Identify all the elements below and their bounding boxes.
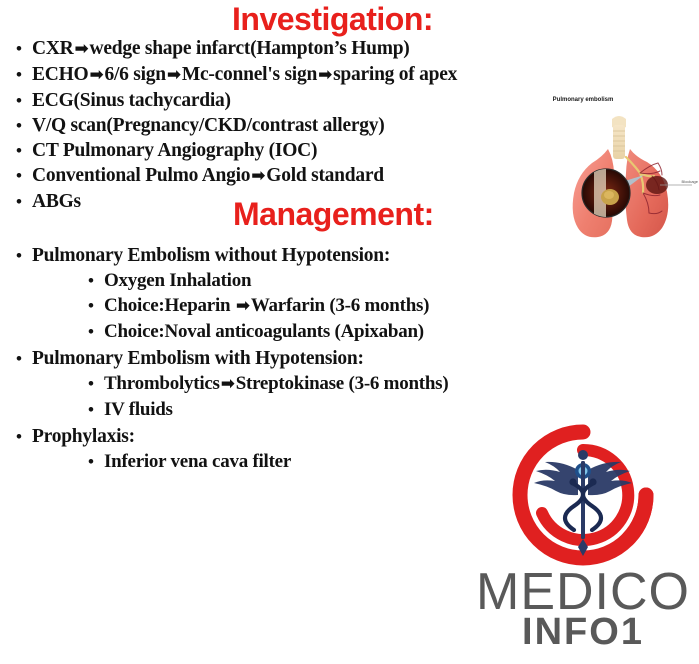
list-item-label: IV fluids [104, 397, 173, 422]
list-item-label: ECG(Sinus tachycardia) [32, 88, 231, 113]
list-item-label: ECHO➡6/6 sign➡Mc-connel's sign➡sparing o… [32, 62, 457, 88]
arrow-right-icon: ➡ [74, 39, 90, 59]
bullet-dot-icon: • [16, 62, 32, 87]
bullet-dot-icon: • [16, 163, 32, 188]
list-item: •V/Q scan(Pregnancy/CKD/contrast allergy… [0, 113, 560, 138]
arrow-right-icon: ➡ [88, 65, 104, 85]
list-item-label: V/Q scan(Pregnancy/CKD/contrast allergy) [32, 113, 385, 138]
list-item: •IV fluids [0, 397, 600, 422]
list-item: •Choice:Heparin ➡Warfarin (3-6 months) [0, 293, 600, 319]
arrow-right-icon: ➡ [166, 65, 182, 85]
list-item-label: Conventional Pulmo Angio➡Gold standard [32, 163, 384, 189]
logo-word-main: MEDICO [466, 568, 699, 616]
lung-anatomy-illustration: Pulmonary embolism Blockage [540, 93, 698, 251]
logo-wordmark: MEDICO INFO1 [466, 568, 699, 650]
list-item-label: CT Pulmonary Angiography (IOC) [32, 138, 317, 163]
bullet-dot-icon: • [88, 268, 104, 293]
bullet-dot-icon: • [88, 319, 104, 344]
list-item: •CT Pulmonary Angiography (IOC) [0, 138, 560, 163]
infographic-canvas: Investigation: •CXR➡wedge shape infarct(… [0, 0, 699, 664]
list-item-label: Pulmonary Embolism with Hypotension: [32, 346, 364, 371]
bullet-dot-icon: • [16, 243, 32, 268]
investigation-list: •CXR➡wedge shape infarct(Hampton’s Hump)… [0, 36, 560, 214]
list-item: •Pulmonary Embolism without Hypotension: [0, 243, 600, 268]
bullet-dot-icon: • [88, 371, 104, 396]
bullet-dot-icon: • [16, 346, 32, 371]
bullet-dot-icon: • [16, 424, 32, 449]
list-item-label: Oxygen Inhalation [104, 268, 251, 293]
list-item-label: Choice:Noval anticoagulants (Apixaban) [104, 319, 424, 344]
bullet-dot-icon: • [16, 138, 32, 163]
lung-figure-caption: Pulmonary embolism [552, 97, 614, 105]
list-item: •ECG(Sinus tachycardia) [0, 88, 560, 113]
bullet-dot-icon: • [16, 88, 32, 113]
lung-figure-side-label: Blockage [682, 179, 698, 184]
list-item-label: CXR➡wedge shape infarct(Hampton’s Hump) [32, 36, 410, 62]
list-item-label: Thrombolytics➡Streptokinase (3-6 months) [104, 371, 448, 397]
bullet-dot-icon: • [88, 449, 104, 474]
arrow-right-icon: ➡ [250, 166, 266, 186]
lung-diagram-svg [540, 93, 698, 251]
list-item-label: Pulmonary Embolism without Hypotension: [32, 243, 390, 268]
brand-logo: MEDICO INFO1 [466, 424, 699, 660]
bullet-dot-icon: • [16, 36, 32, 61]
bullet-dot-icon: • [88, 293, 104, 318]
bullet-dot-icon: • [16, 189, 32, 214]
arrow-right-icon: ➡ [220, 374, 236, 394]
list-item-label: Prophylaxis: [32, 424, 135, 449]
list-item: •Thrombolytics➡Streptokinase (3-6 months… [0, 371, 600, 397]
bullet-dot-icon: • [16, 113, 32, 138]
arrow-right-icon: ➡ [235, 296, 251, 316]
section-title-management: Management: [233, 197, 434, 231]
list-item: •ECHO➡6/6 sign➡Mc-connel's sign➡sparing … [0, 62, 560, 88]
list-item-label: Choice:Heparin ➡Warfarin (3-6 months) [104, 293, 429, 319]
list-item: •Choice:Noval anticoagulants (Apixaban) [0, 319, 600, 344]
caduceus-in-red-swirl-icon [494, 424, 672, 574]
list-item: •Oxygen Inhalation [0, 268, 600, 293]
list-item-label: ABGs [32, 189, 81, 214]
list-item: •Pulmonary Embolism with Hypotension: [0, 346, 600, 371]
list-item: •Conventional Pulmo Angio➡Gold standard [0, 163, 560, 189]
arrow-right-icon: ➡ [317, 65, 333, 85]
bullet-dot-icon: • [88, 397, 104, 422]
section-title-investigation: Investigation: [232, 2, 433, 36]
list-item: •CXR➡wedge shape infarct(Hampton’s Hump) [0, 36, 560, 62]
list-item-label: Inferior vena cava filter [104, 449, 291, 474]
